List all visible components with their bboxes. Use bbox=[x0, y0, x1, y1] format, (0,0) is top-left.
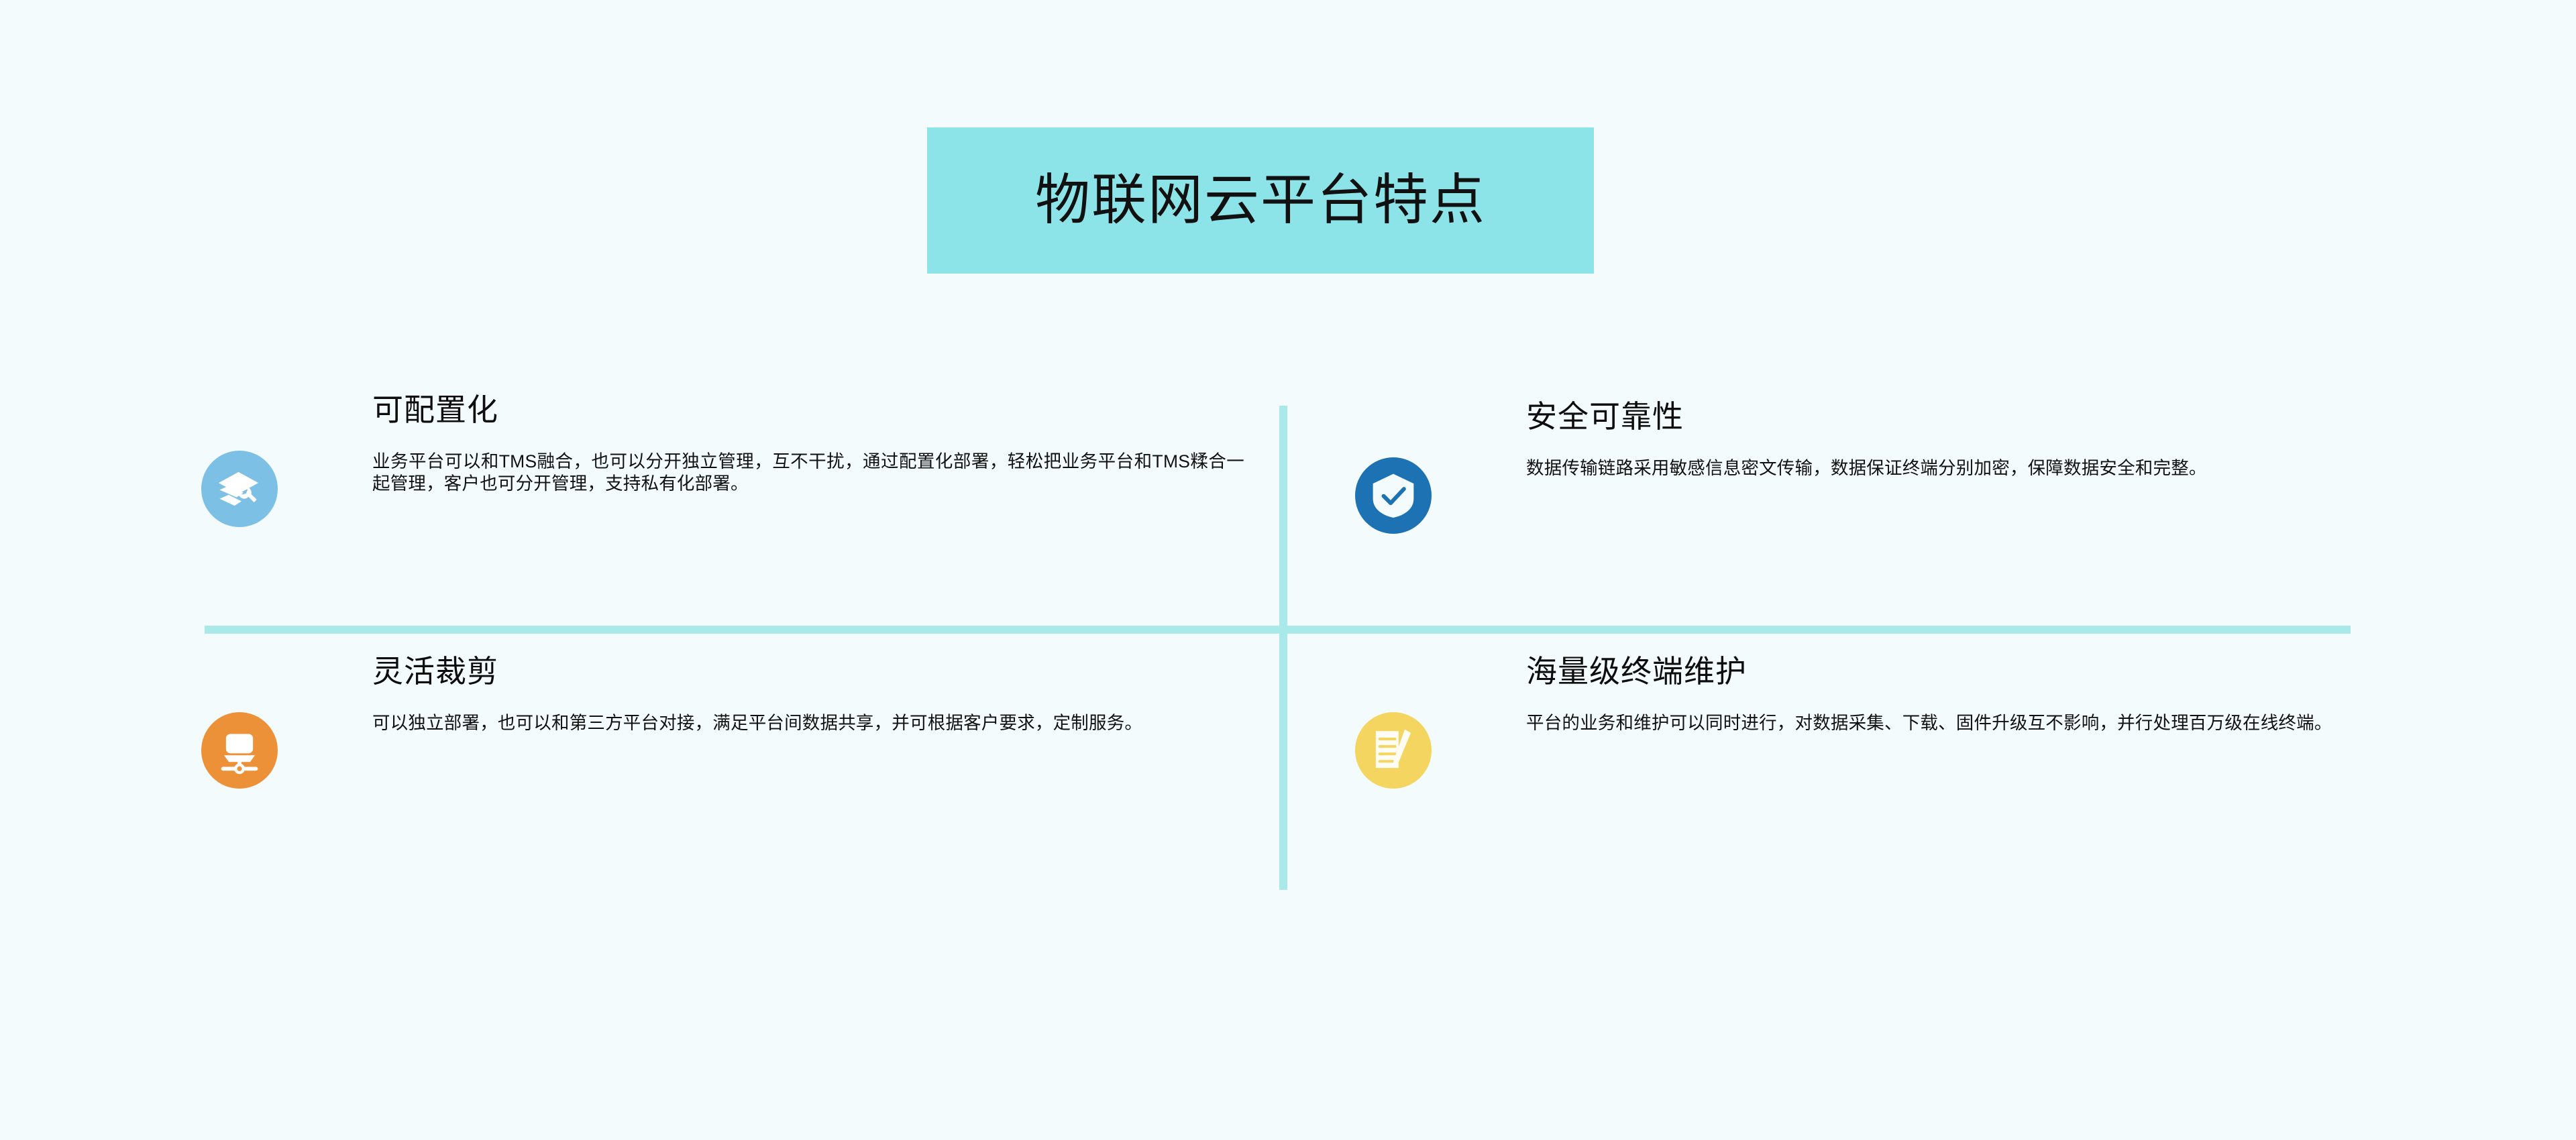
feature-description: 业务平台可以和TMS融合，也可以分开独立管理，互不干扰，通过配置化部署，轻松把业… bbox=[201, 451, 1244, 496]
feature-card-configurable: 可配置化 业务平台可以和TMS融合，也可以分开独立管理，互不干扰，通过配置化部署… bbox=[201, 392, 1261, 496]
feature-description: 平台的业务和维护可以同时进行，对数据采集、下载、固件升级互不影响，并行处理百万级… bbox=[1355, 712, 2358, 735]
shield-check-icon bbox=[1355, 457, 1432, 534]
layers-wrench-icon bbox=[201, 451, 278, 527]
feature-heading: 海量级终端维护 bbox=[1355, 654, 2375, 689]
feature-heading: 安全可靠性 bbox=[1355, 399, 2375, 435]
slide-canvas: 物联网云平台特点 可配置化 业务平台可以和TMS融合，也可以分开独立管理，互不干… bbox=[0, 0, 2576, 1140]
document-pencil-icon bbox=[1355, 712, 1432, 789]
horizontal-divider bbox=[205, 626, 2351, 634]
feature-heading: 可配置化 bbox=[201, 392, 1261, 428]
page-title: 物联网云平台特点 bbox=[1035, 173, 1486, 228]
feature-card-mass-terminal-maintenance: 海量级终端维护 平台的业务和维护可以同时进行，对数据采集、下载、固件升级互不影响… bbox=[1355, 654, 2375, 734]
feature-body: 平台的业务和维护可以同时进行，对数据采集、下载、固件升级互不影响，并行处理百万级… bbox=[1355, 712, 2375, 735]
feature-body: 数据传输链路采用敏感信息密文传输，数据保证终端分别加密，保障数据安全和完整。 bbox=[1355, 457, 2375, 480]
vertical-divider bbox=[1279, 406, 1287, 890]
feature-body: 业务平台可以和TMS融合，也可以分开独立管理，互不干扰，通过配置化部署，轻松把业… bbox=[201, 451, 1261, 496]
feature-body: 可以独立部署，也可以和第三方平台对接，满足平台间数据共享，并可根据客户要求，定制… bbox=[201, 712, 1261, 735]
feature-description: 可以独立部署，也可以和第三方平台对接，满足平台间数据共享，并可根据客户要求，定制… bbox=[201, 712, 1244, 735]
server-network-icon bbox=[201, 712, 278, 789]
feature-card-security: 安全可靠性 数据传输链路采用敏感信息密文传输，数据保证终端分别加密，保障数据安全… bbox=[1355, 399, 2375, 479]
feature-description: 数据传输链路采用敏感信息密文传输，数据保证终端分别加密，保障数据安全和完整。 bbox=[1355, 457, 2355, 480]
feature-card-flexible-tailoring: 灵活裁剪 可以独立部署，也可以和第三方平台对接，满足平台间数据共享，并可根据客户… bbox=[201, 654, 1261, 734]
feature-heading: 灵活裁剪 bbox=[201, 654, 1261, 689]
title-banner: 物联网云平台特点 bbox=[927, 127, 1594, 274]
